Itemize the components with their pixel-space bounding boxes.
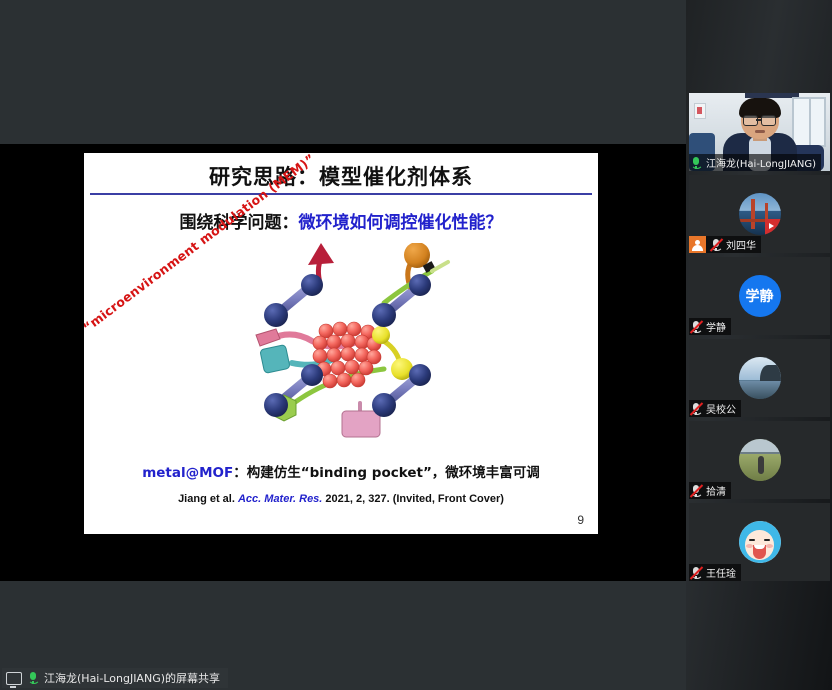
initials-avatar-icon: 学静	[739, 275, 781, 317]
participant-nameplate-2: 学静	[689, 318, 731, 335]
shared-screen-stage[interactable]: 研究思路：模型催化剂体系 围绕科学问题：微环境如何调控催化性能？ “microe…	[0, 144, 686, 581]
status-bar: 江海龙(Hai-LongJIANG)的屏幕共享	[0, 666, 686, 690]
participant-nameplate-5: 王任琻	[689, 564, 741, 581]
claim-rest: ：构建仿生“binding pocket”，微环境丰富可调	[233, 465, 540, 481]
microphone-on-icon	[689, 156, 703, 170]
citation-detail: 2021, 2, 327. (Invited, Front Cover)	[325, 493, 504, 505]
participant-name-5: 王任琻	[706, 565, 736, 580]
participant-name-0: 江海龙(Hai-LongJIANG)	[706, 155, 816, 170]
microphone-on-icon	[26, 671, 40, 685]
participant-nameplate-1: 刘四华	[689, 236, 761, 253]
avatar-initials: 学静	[739, 275, 781, 317]
mountain-lake-avatar-icon	[739, 357, 781, 399]
citation-journal: Acc. Mater. Res.	[238, 493, 322, 505]
citation-author: Jiang et al.	[178, 493, 235, 505]
slide-citation: Jiang et al. Acc. Mater. Res. 2021, 2, 3…	[84, 493, 598, 505]
question-highlight: 微环境如何调控催化性能？	[299, 213, 503, 233]
monitor-icon	[6, 672, 22, 685]
participant-tile-2[interactable]: 学静 学静	[689, 257, 830, 335]
participant-tile-1[interactable]: 刘四华	[689, 175, 830, 253]
screen-share-indicator[interactable]: 江海龙(Hai-LongJIANG)的屏幕共享	[2, 668, 228, 688]
microphone-muted-icon	[709, 238, 723, 252]
slide-question-line: 围绕科学问题：微环境如何调控催化性能？	[84, 208, 598, 233]
participant-tile-3[interactable]: 吴校公	[689, 339, 830, 417]
slide-page-number: 9	[577, 513, 584, 527]
screen-share-label: 江海龙(Hai-LongJIANG)的屏幕共享	[44, 670, 220, 686]
title-divider	[90, 193, 592, 195]
slide-title: 研究思路：模型催化剂体系	[84, 161, 598, 191]
golden-gate-avatar-icon	[739, 193, 781, 235]
participant-tile-0[interactable]: 江海龙(Hai-LongJIANG)	[689, 93, 830, 171]
claim-lead: metal@MOF	[142, 465, 233, 481]
participant-name-2: 学静	[706, 319, 726, 334]
microphone-muted-icon	[689, 566, 703, 580]
host-badge-icon	[689, 236, 706, 253]
microphone-muted-icon	[689, 320, 703, 334]
presentation-slide: 研究思路：模型催化剂体系 围绕科学问题：微环境如何调控催化性能？ “microe…	[84, 153, 598, 534]
participant-nameplate-0: 江海龙(Hai-LongJIANG)	[689, 154, 821, 171]
zoom-meeting-window: 研究思路：模型催化剂体系 围绕科学问题：微环境如何调控催化性能？ “microe…	[0, 0, 832, 690]
microphone-muted-icon	[689, 402, 703, 416]
participant-name-4: 拾清	[706, 483, 726, 498]
slide-claim: metal@MOF：构建仿生“binding pocket”，微环境丰富可调	[84, 461, 598, 481]
participant-nameplate-3: 吴校公	[689, 400, 741, 417]
participant-name-1: 刘四华	[726, 237, 756, 252]
participant-nameplate-4: 拾清	[689, 482, 731, 499]
participant-name-3: 吴校公	[706, 401, 736, 416]
participant-tile-4[interactable]: 拾清	[689, 421, 830, 499]
cartoon-avatar-icon	[739, 521, 781, 563]
mof-cage-figure	[234, 243, 484, 448]
microphone-muted-icon	[689, 484, 703, 498]
participant-tile-5[interactable]: 王任琻	[689, 503, 830, 581]
participant-rail[interactable]: 江海龙(Hai-LongJIANG) 刘四华	[686, 0, 832, 690]
street-photo-avatar-icon	[739, 439, 781, 481]
